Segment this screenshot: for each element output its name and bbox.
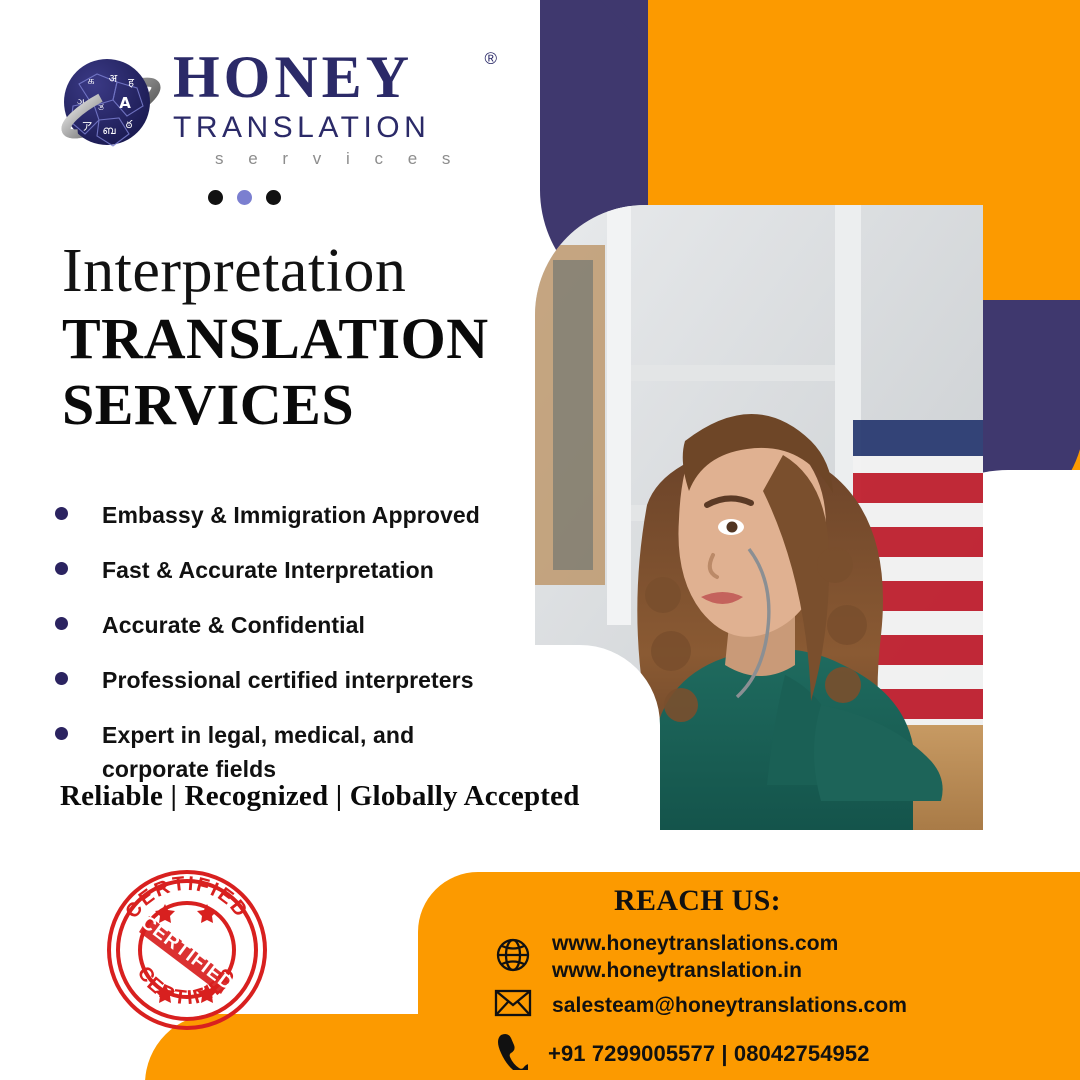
list-item-label: Accurate & Confidential <box>102 608 365 642</box>
list-item-label: Expert in legal, medical, and corporate … <box>102 718 462 786</box>
globe-logo-icon: க अ ह ગ ತ A ア ബ ఠ <box>55 50 167 162</box>
list-item: Fast & Accurate Interpretation <box>55 553 525 587</box>
bullet-icon <box>55 617 68 630</box>
svg-text:ఠ: ఠ <box>126 118 133 131</box>
logo-wordmark: HONEY® TRANSLATION s e r v i c e s <box>173 45 473 170</box>
headline-script: Interpretation <box>62 236 406 306</box>
decorative-dots <box>208 190 281 205</box>
dot-2 <box>237 190 252 205</box>
poster-canvas: க अ ह ગ ತ A ア ബ ఠ HONEY® TRANSLATION s e… <box>0 0 1080 1080</box>
contact-heading: REACH US: <box>614 884 781 918</box>
tagline: Reliable | Recognized | Globally Accepte… <box>60 780 580 813</box>
website-primary[interactable]: www.honeytranslations.com <box>552 930 838 957</box>
website-list[interactable]: www.honeytranslations.com www.honeytrans… <box>552 930 838 984</box>
headline-main: TRANSLATION SERVICES <box>62 306 489 438</box>
list-item: Professional certified interpreters <box>55 663 525 697</box>
logo-name: HONEY <box>173 45 413 109</box>
svg-text:ह: ह <box>128 76 134 89</box>
headline-line-2: SERVICES <box>62 372 489 438</box>
website-secondary[interactable]: www.honeytranslation.in <box>552 957 838 984</box>
feature-list: Embassy & Immigration Approved Fast & Ac… <box>55 498 525 807</box>
brand-logo: க अ ह ગ ತ A ア ബ ఠ HONEY® TRANSLATION s e… <box>55 45 475 175</box>
contact-phone-row[interactable]: +91 7299005577 | 08042754952 <box>494 1032 870 1075</box>
svg-text:ア: ア <box>82 120 93 133</box>
photo-notch-cutout <box>520 645 660 845</box>
bullet-icon <box>55 507 68 520</box>
phone-numbers[interactable]: +91 7299005577 | 08042754952 <box>548 1040 870 1067</box>
dot-1 <box>208 190 223 205</box>
list-item: Accurate & Confidential <box>55 608 525 642</box>
logo-subtitle: TRANSLATION <box>173 111 473 145</box>
bullet-icon <box>55 672 68 685</box>
svg-text:A: A <box>119 94 131 112</box>
bullet-icon <box>55 562 68 575</box>
list-item-label: Professional certified interpreters <box>102 663 474 697</box>
envelope-icon <box>494 988 532 1023</box>
contact-email-row[interactable]: salesteam@honeytranslations.com <box>494 988 907 1023</box>
svg-text:ബ: ബ <box>102 124 116 137</box>
svg-text:க: க <box>87 74 94 87</box>
svg-text:अ: अ <box>109 72 118 85</box>
headline-line-1: TRANSLATION <box>62 306 489 372</box>
registered-mark-icon: ® <box>484 49 497 69</box>
globe-icon <box>494 936 532 979</box>
list-item: Expert in legal, medical, and corporate … <box>55 718 525 786</box>
contact-website-row[interactable]: www.honeytranslations.com www.honeytrans… <box>494 930 838 984</box>
certified-stamp: CERTIFIED CERTIFIED CERTIFIED <box>103 866 271 1034</box>
list-item-label: Embassy & Immigration Approved <box>102 498 480 532</box>
list-item-label: Fast & Accurate Interpretation <box>102 553 434 587</box>
phone-icon <box>494 1032 528 1075</box>
email-address[interactable]: salesteam@honeytranslations.com <box>552 992 907 1019</box>
logo-tertiary: s e r v i c e s <box>215 148 473 170</box>
bullet-icon <box>55 727 68 740</box>
dot-3 <box>266 190 281 205</box>
list-item: Embassy & Immigration Approved <box>55 498 525 532</box>
